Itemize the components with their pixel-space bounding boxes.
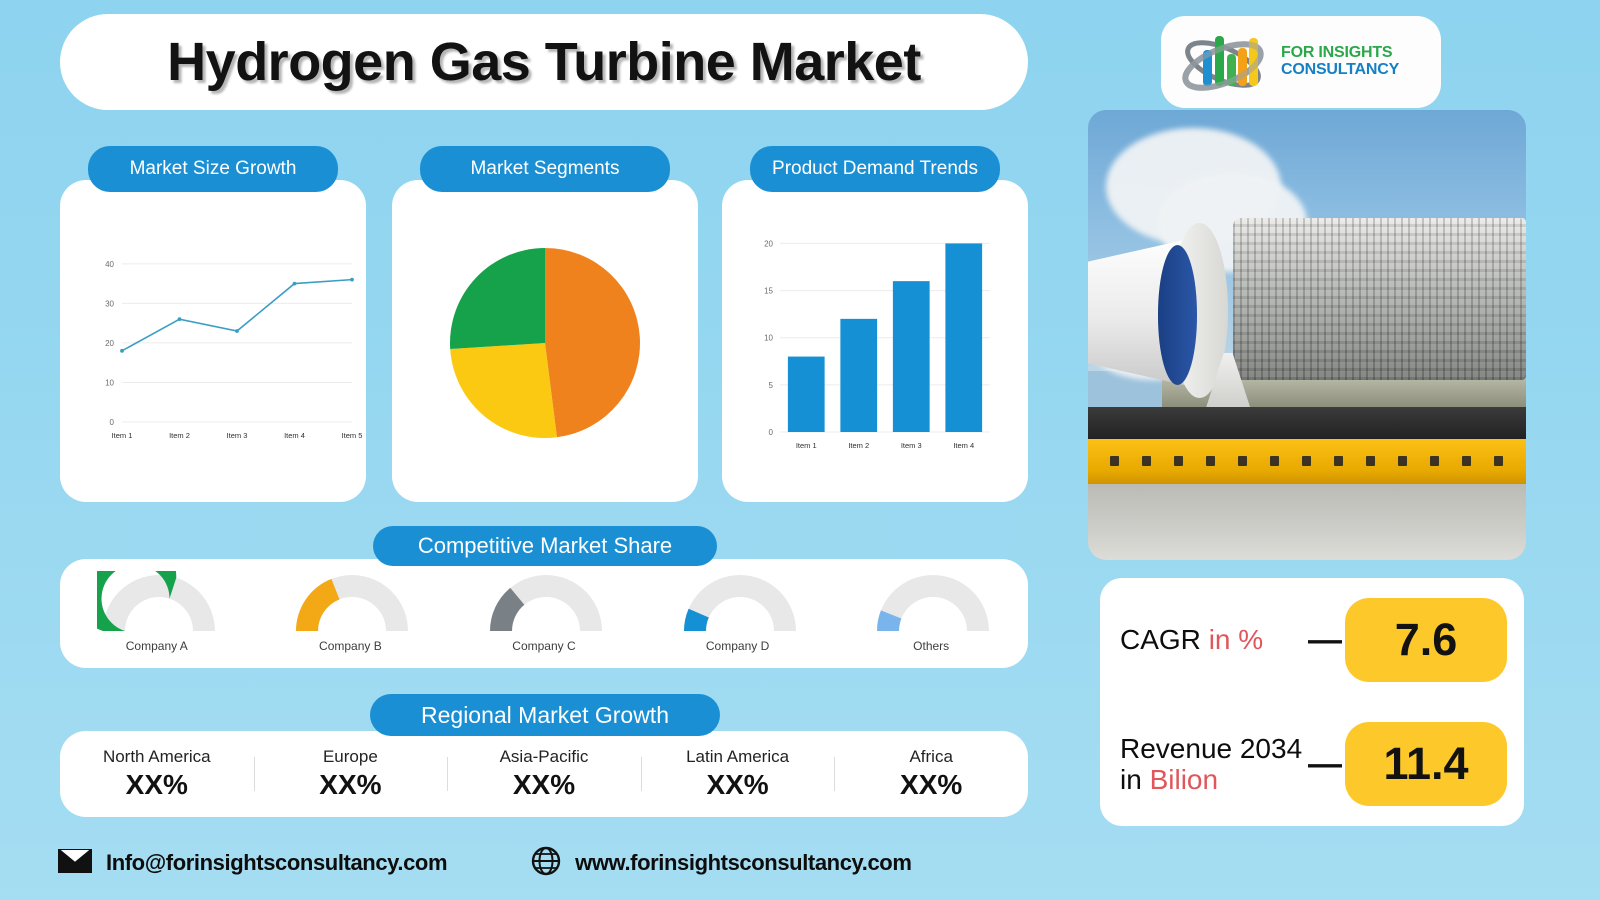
trailer-rivet — [1270, 456, 1279, 466]
trailer-rivet — [1206, 456, 1215, 466]
footer-website[interactable]: www.forinsightsconsultancy.com — [531, 846, 911, 881]
market-segments-card — [392, 180, 698, 502]
gauge-group: Company ACompany BCompany CCompany DOthe… — [60, 559, 1028, 668]
trailer-rivet — [1462, 456, 1471, 466]
panel-title-product-demand-trends: Product Demand Trends — [750, 146, 1000, 192]
trailer-rivet — [1238, 456, 1247, 466]
cagr-label-text: CAGR — [1120, 624, 1209, 655]
revenue-label-in: in — [1120, 764, 1150, 795]
revenue-dash: — — [1305, 745, 1345, 784]
svg-text:30: 30 — [105, 299, 114, 308]
region-5-value: XX% — [900, 769, 962, 801]
photo-turbine-body — [1233, 218, 1526, 380]
trailer-rivet — [1366, 456, 1375, 466]
gauge-cell-2[interactable]: Company B — [254, 571, 448, 653]
svg-text:10: 10 — [105, 378, 114, 387]
region-cell-2[interactable]: EuropeXX% — [254, 747, 448, 801]
trailer-rivet — [1494, 456, 1503, 466]
gauge-4-arc — [678, 571, 798, 631]
svg-text:15: 15 — [764, 287, 773, 296]
gauge-2-arc — [290, 571, 410, 631]
bar-chart-svg: 05101520Item 1Item 2Item 3Item 4 — [722, 180, 1028, 502]
region-3-value: XX% — [513, 769, 575, 801]
trailer-rivet — [1430, 456, 1439, 466]
photo-trailer-bed — [1088, 407, 1526, 439]
turbine-photo — [1088, 110, 1526, 560]
trailer-rivet — [1398, 456, 1407, 466]
region-5-name: Africa — [909, 747, 952, 767]
gauge-4-label: Company D — [706, 639, 769, 653]
svg-text:5: 5 — [769, 381, 774, 390]
panel-title-regional-market-growth: Regional Market Growth — [370, 694, 720, 736]
region-1-name: North America — [103, 747, 211, 767]
logo-line-2: CONSULTANCY — [1281, 62, 1399, 79]
brand-logo[interactable]: FOR INSIGHTS CONSULTANCY — [1161, 16, 1441, 108]
gauge-cell-1[interactable]: Company A — [60, 571, 254, 653]
svg-text:Item 2: Item 2 — [169, 431, 190, 440]
region-4-value: XX% — [706, 769, 768, 801]
region-4-name: Latin America — [686, 747, 789, 767]
envelope-icon — [58, 849, 92, 878]
svg-text:0: 0 — [110, 418, 115, 427]
svg-text:Item 5: Item 5 — [342, 431, 363, 440]
trailer-rivet — [1110, 456, 1119, 466]
svg-text:20: 20 — [105, 339, 114, 348]
panel-title-competitive-market-share: Competitive Market Share — [373, 526, 717, 566]
product-demand-trends-card: 05101520Item 1Item 2Item 3Item 4 — [722, 180, 1028, 502]
region-1-value: XX% — [126, 769, 188, 801]
footer-website-text: www.forinsightsconsultancy.com — [575, 850, 911, 876]
region-2-name: Europe — [323, 747, 378, 767]
gauge-cell-4[interactable]: Company D — [641, 571, 835, 653]
svg-text:Item 3: Item 3 — [901, 441, 922, 450]
cagr-label: CAGR in % — [1100, 624, 1305, 655]
photo-turbine-intake-hub — [1158, 245, 1197, 385]
competitive-market-share-card: Company ACompany BCompany CCompany DOthe… — [60, 559, 1028, 668]
regional-market-growth-card: North AmericaXX%EuropeXX%Asia-PacificXX%… — [60, 731, 1028, 817]
trailer-rivet — [1174, 456, 1183, 466]
revenue-label-accent: Bilion — [1150, 764, 1218, 795]
trailer-rivet — [1334, 456, 1343, 466]
globe-icon — [531, 846, 561, 881]
panel-title-market-segments: Market Segments — [420, 146, 670, 192]
photo-yellow-trailer — [1088, 439, 1526, 484]
svg-text:10: 10 — [764, 334, 773, 343]
region-cell-1[interactable]: North AmericaXX% — [60, 747, 254, 801]
gauge-1-label: Company A — [126, 639, 188, 653]
line-chart-svg: 010203040Item 1Item 2Item 3Item 4Item 5 — [60, 180, 366, 502]
revenue-label-line2: in Bilion — [1120, 764, 1305, 795]
pie-chart-svg — [392, 180, 698, 502]
footer-email-text: Info@forinsightsconsultancy.com — [106, 850, 447, 876]
page-title: Hydrogen Gas Turbine Market — [167, 31, 921, 93]
region-cell-4[interactable]: Latin AmericaXX% — [641, 747, 835, 801]
key-metrics-card: CAGR in % — 7.6 Revenue 2034 in Bilion —… — [1100, 578, 1524, 826]
svg-text:Item 1: Item 1 — [112, 431, 133, 440]
cagr-row: CAGR in % — 7.6 — [1100, 578, 1524, 702]
gauge-5-label: Others — [913, 639, 949, 653]
cagr-label-accent: in % — [1209, 624, 1263, 655]
revenue-value-badge: 11.4 — [1345, 722, 1507, 806]
gauge-5-arc — [871, 571, 991, 631]
svg-text:Item 1: Item 1 — [796, 441, 817, 450]
gauge-3-arc — [484, 571, 604, 631]
logo-line-1: FOR INSIGHTS — [1281, 45, 1399, 62]
gauge-3-label: Company C — [512, 639, 575, 653]
bar-chart-orbit-logo-icon — [1175, 24, 1271, 100]
svg-text:0: 0 — [769, 428, 774, 437]
region-2-value: XX% — [319, 769, 381, 801]
svg-text:Item 4: Item 4 — [953, 441, 974, 450]
region-3-name: Asia-Pacific — [500, 747, 589, 767]
revenue-row: Revenue 2034 in Bilion — 11.4 — [1100, 702, 1524, 826]
gauge-cell-5[interactable]: Others — [834, 571, 1028, 653]
svg-text:Item 4: Item 4 — [284, 431, 305, 440]
region-group: North AmericaXX%EuropeXX%Asia-PacificXX%… — [60, 731, 1028, 817]
svg-text:20: 20 — [764, 239, 773, 248]
trailer-rivet — [1302, 456, 1311, 466]
svg-text:40: 40 — [105, 260, 114, 269]
footer-email[interactable]: Info@forinsightsconsultancy.com — [58, 849, 447, 878]
gauge-1-arc — [97, 571, 217, 631]
panel-title-market-size-growth: Market Size Growth — [88, 146, 338, 192]
svg-text:Item 3: Item 3 — [227, 431, 248, 440]
title-card: Hydrogen Gas Turbine Market — [60, 14, 1028, 110]
region-cell-5[interactable]: AfricaXX% — [834, 747, 1028, 801]
cagr-dash: — — [1305, 621, 1345, 660]
gauge-2-label: Company B — [319, 639, 382, 653]
cagr-value-badge: 7.6 — [1345, 598, 1507, 682]
photo-turbine-texture — [1233, 218, 1526, 380]
svg-text:Item 2: Item 2 — [848, 441, 869, 450]
photo-ground — [1088, 479, 1526, 560]
region-cell-3[interactable]: Asia-PacificXX% — [447, 747, 641, 801]
revenue-label: Revenue 2034 in Bilion — [1100, 733, 1305, 796]
revenue-label-line1: Revenue 2034 — [1120, 733, 1305, 764]
brand-name: FOR INSIGHTS CONSULTANCY — [1281, 45, 1399, 79]
gauge-cell-3[interactable]: Company C — [447, 571, 641, 653]
footer: Info@forinsightsconsultancy.com www.fori… — [58, 840, 1048, 886]
trailer-rivet — [1142, 456, 1151, 466]
market-size-growth-card: 010203040Item 1Item 2Item 3Item 4Item 5 — [60, 180, 366, 502]
